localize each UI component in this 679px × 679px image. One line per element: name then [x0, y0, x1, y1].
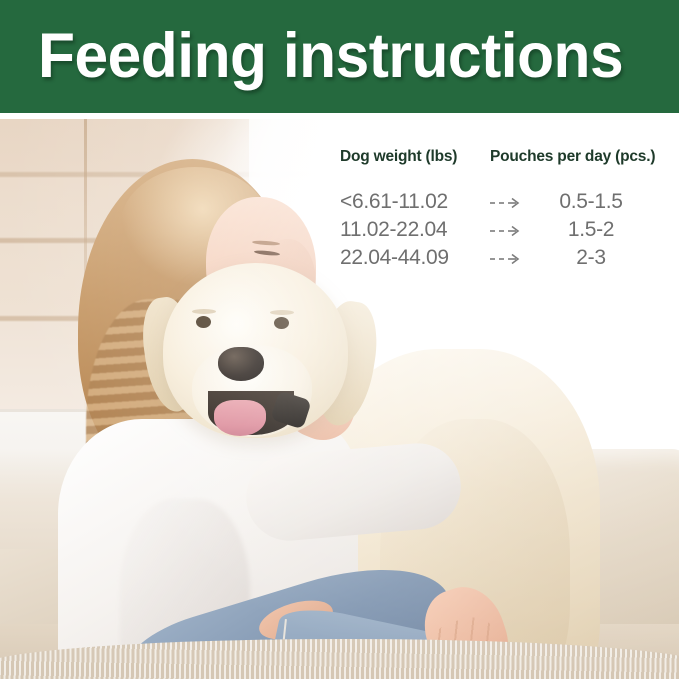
column-header-dog-weight-label: Dog weight [340, 148, 422, 165]
column-header-dog-weight-unit: (lbs) [426, 148, 458, 165]
cell-dog-weight: 11.02-22.04 [340, 218, 480, 242]
dashed-arrow-right-icon [480, 223, 532, 238]
cell-pouches-per-day: 2-3 [532, 246, 650, 270]
feeding-instructions-page: Feeding instructions [0, 0, 679, 679]
table-row: <6.61-11.02 0.5-1.5 [340, 188, 660, 216]
dog-eye-right [274, 317, 289, 329]
dashed-arrow-right-icon [480, 195, 532, 210]
column-header-dog-weight: Dog weight(lbs) [340, 148, 490, 166]
feeding-table-header: Dog weight(lbs) Pouches per day (pcs.) [340, 148, 660, 166]
dashed-arrow-right-icon [480, 251, 532, 266]
feeding-table: Dog weight(lbs) Pouches per day (pcs.) <… [340, 148, 660, 272]
dog-nose [218, 347, 264, 381]
dog-tongue [214, 400, 266, 436]
table-row: 11.02-22.04 1.5-2 [340, 216, 660, 244]
cell-dog-weight: <6.61-11.02 [340, 190, 480, 214]
cell-pouches-per-day: 1.5-2 [532, 218, 650, 242]
dog-eye-left [196, 316, 211, 328]
table-row: 22.04-44.09 2-3 [340, 244, 660, 272]
dog-brow-right [270, 310, 294, 315]
header-banner: Feeding instructions [0, 0, 679, 113]
cell-pouches-per-day: 0.5-1.5 [532, 190, 650, 214]
dog-brow-left [192, 309, 216, 314]
feeding-table-rows: <6.61-11.02 0.5-1.5 11.02-22.04 [340, 188, 660, 272]
column-header-pouches-per-day: Pouches per day (pcs.) [490, 148, 660, 166]
cell-dog-weight: 22.04-44.09 [340, 246, 480, 270]
page-title: Feeding instructions [38, 25, 623, 88]
